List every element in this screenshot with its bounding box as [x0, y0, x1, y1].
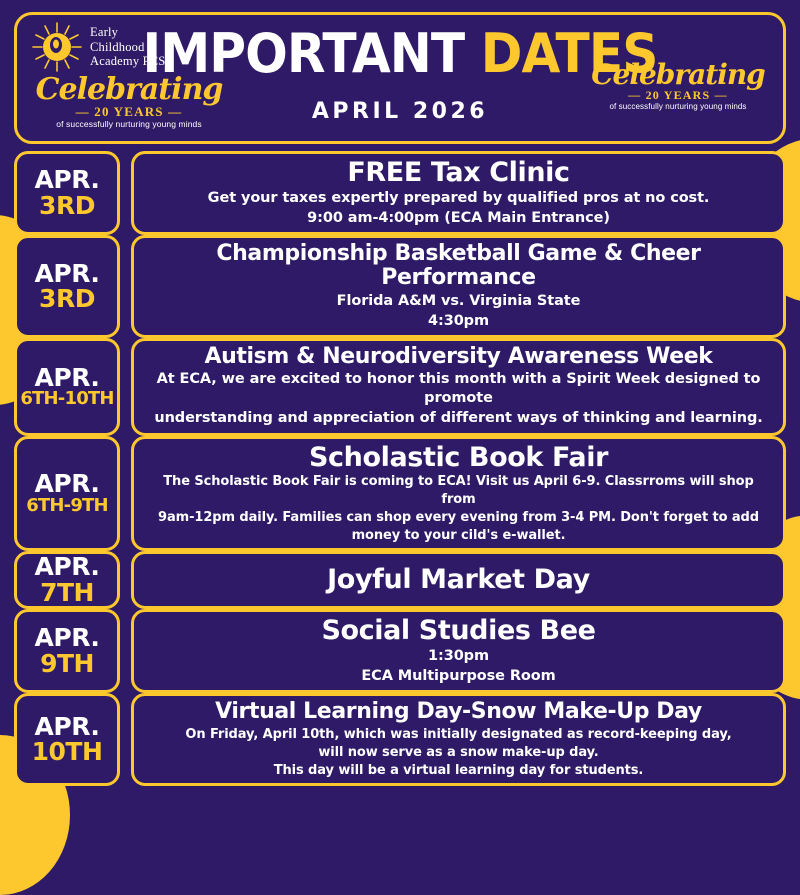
event-detail-line: 1:30pm: [428, 647, 489, 666]
flyer-header: Early Childhood Academy PCS Celebrating …: [14, 12, 786, 144]
event-title: Autism & Neurodiversity Awareness Week: [205, 345, 713, 369]
date-month: APR.: [35, 625, 100, 651]
date-badge: APR.6TH-9TH: [14, 436, 120, 551]
celebrating-subtitle-right: of successfully nurturing young minds: [583, 102, 773, 111]
date-month: APR.: [35, 261, 100, 287]
event-card: Scholastic Book FairThe Scholastic Book …: [131, 436, 786, 551]
event-detail-line: 4:30pm: [428, 312, 489, 331]
event-title: Social Studies Bee: [321, 616, 595, 646]
event-row: APR.3RDFREE Tax ClinicGet your taxes exp…: [14, 151, 786, 235]
date-day: 9TH: [40, 651, 94, 677]
date-badge: APR.3RD: [14, 151, 120, 235]
event-card: Championship Basketball Game & Cheer Per…: [131, 235, 786, 338]
event-detail-line: ECA Multipurpose Room: [361, 667, 555, 686]
event-title: FREE Tax Clinic: [347, 158, 569, 188]
event-row: APR.10THVirtual Learning Day-Snow Make-U…: [14, 693, 786, 786]
date-badge: APR.6TH-10TH: [14, 338, 120, 436]
date-month: APR.: [35, 365, 100, 391]
date-day: 3RD: [39, 286, 95, 312]
date-badge: APR.7TH: [14, 551, 120, 609]
date-day: 6TH-10TH: [20, 390, 113, 409]
date-day: 6TH-9TH: [26, 497, 108, 516]
event-detail-line: will now serve as a snow make-up day.: [318, 744, 598, 761]
flyer-page: Early Childhood Academy PCS Celebrating …: [0, 0, 800, 800]
event-detail-line: money to your cild's e-wallet.: [352, 527, 566, 544]
date-month: APR.: [35, 714, 100, 740]
event-detail-line: understanding and appreciation of differ…: [154, 409, 762, 428]
event-title: Championship Basketball Game & Cheer Per…: [148, 242, 769, 290]
events-list: APR.3RDFREE Tax ClinicGet your taxes exp…: [14, 144, 786, 788]
page-title-white: IMPORTANT: [142, 22, 464, 85]
event-detail-line: This day will be a virtual learning day …: [274, 762, 644, 779]
event-row: APR.3RDChampionship Basketball Game & Ch…: [14, 235, 786, 338]
event-card: Autism & Neurodiversity Awareness WeekAt…: [131, 338, 786, 436]
event-detail-line: At ECA, we are excited to honor this mon…: [148, 370, 769, 408]
date-day: 10TH: [32, 739, 103, 765]
event-detail-line: 9am-12pm daily. Families can shop every …: [158, 509, 759, 526]
event-detail-line: 9:00 am-4:00pm (ECA Main Entrance): [307, 209, 610, 228]
date-day: 7TH: [40, 580, 94, 606]
event-card: Social Studies Bee1:30pmECA Multipurpose…: [131, 609, 786, 693]
event-detail-line: The Scholastic Book Fair is coming to EC…: [148, 473, 769, 507]
event-card: Virtual Learning Day-Snow Make-Up DayOn …: [131, 693, 786, 786]
event-detail-line: Get your taxes expertly prepared by qual…: [208, 189, 710, 208]
date-month: APR.: [35, 167, 100, 193]
date-day: 3RD: [39, 193, 95, 219]
date-badge: APR.3RD: [14, 235, 120, 338]
date-badge: APR.10TH: [14, 693, 120, 786]
date-badge: APR.9TH: [14, 609, 120, 693]
event-title: Virtual Learning Day-Snow Make-Up Day: [215, 700, 702, 724]
event-title: Joyful Market Day: [327, 565, 590, 595]
event-card: Joyful Market Day: [131, 551, 786, 609]
event-row: APR.7THJoyful Market Day: [14, 551, 786, 609]
date-month: APR.: [35, 554, 100, 580]
event-row: APR.6TH-10THAutism & Neurodiversity Awar…: [14, 338, 786, 436]
event-card: FREE Tax ClinicGet your taxes expertly p…: [131, 151, 786, 235]
celebrating-script-right: Celebrating: [583, 61, 773, 89]
celebrating-badge-right: Celebrating — 20 YEARS — of successfully…: [583, 61, 773, 111]
event-detail-line: Florida A&M vs. Virginia State: [337, 292, 581, 311]
event-row: APR.6TH-9THScholastic Book FairThe Schol…: [14, 436, 786, 551]
date-month: APR.: [35, 471, 100, 497]
event-title: Scholastic Book Fair: [309, 443, 608, 473]
event-row: APR.9THSocial Studies Bee1:30pmECA Multi…: [14, 609, 786, 693]
event-detail-line: On Friday, April 10th, which was initial…: [185, 726, 731, 743]
